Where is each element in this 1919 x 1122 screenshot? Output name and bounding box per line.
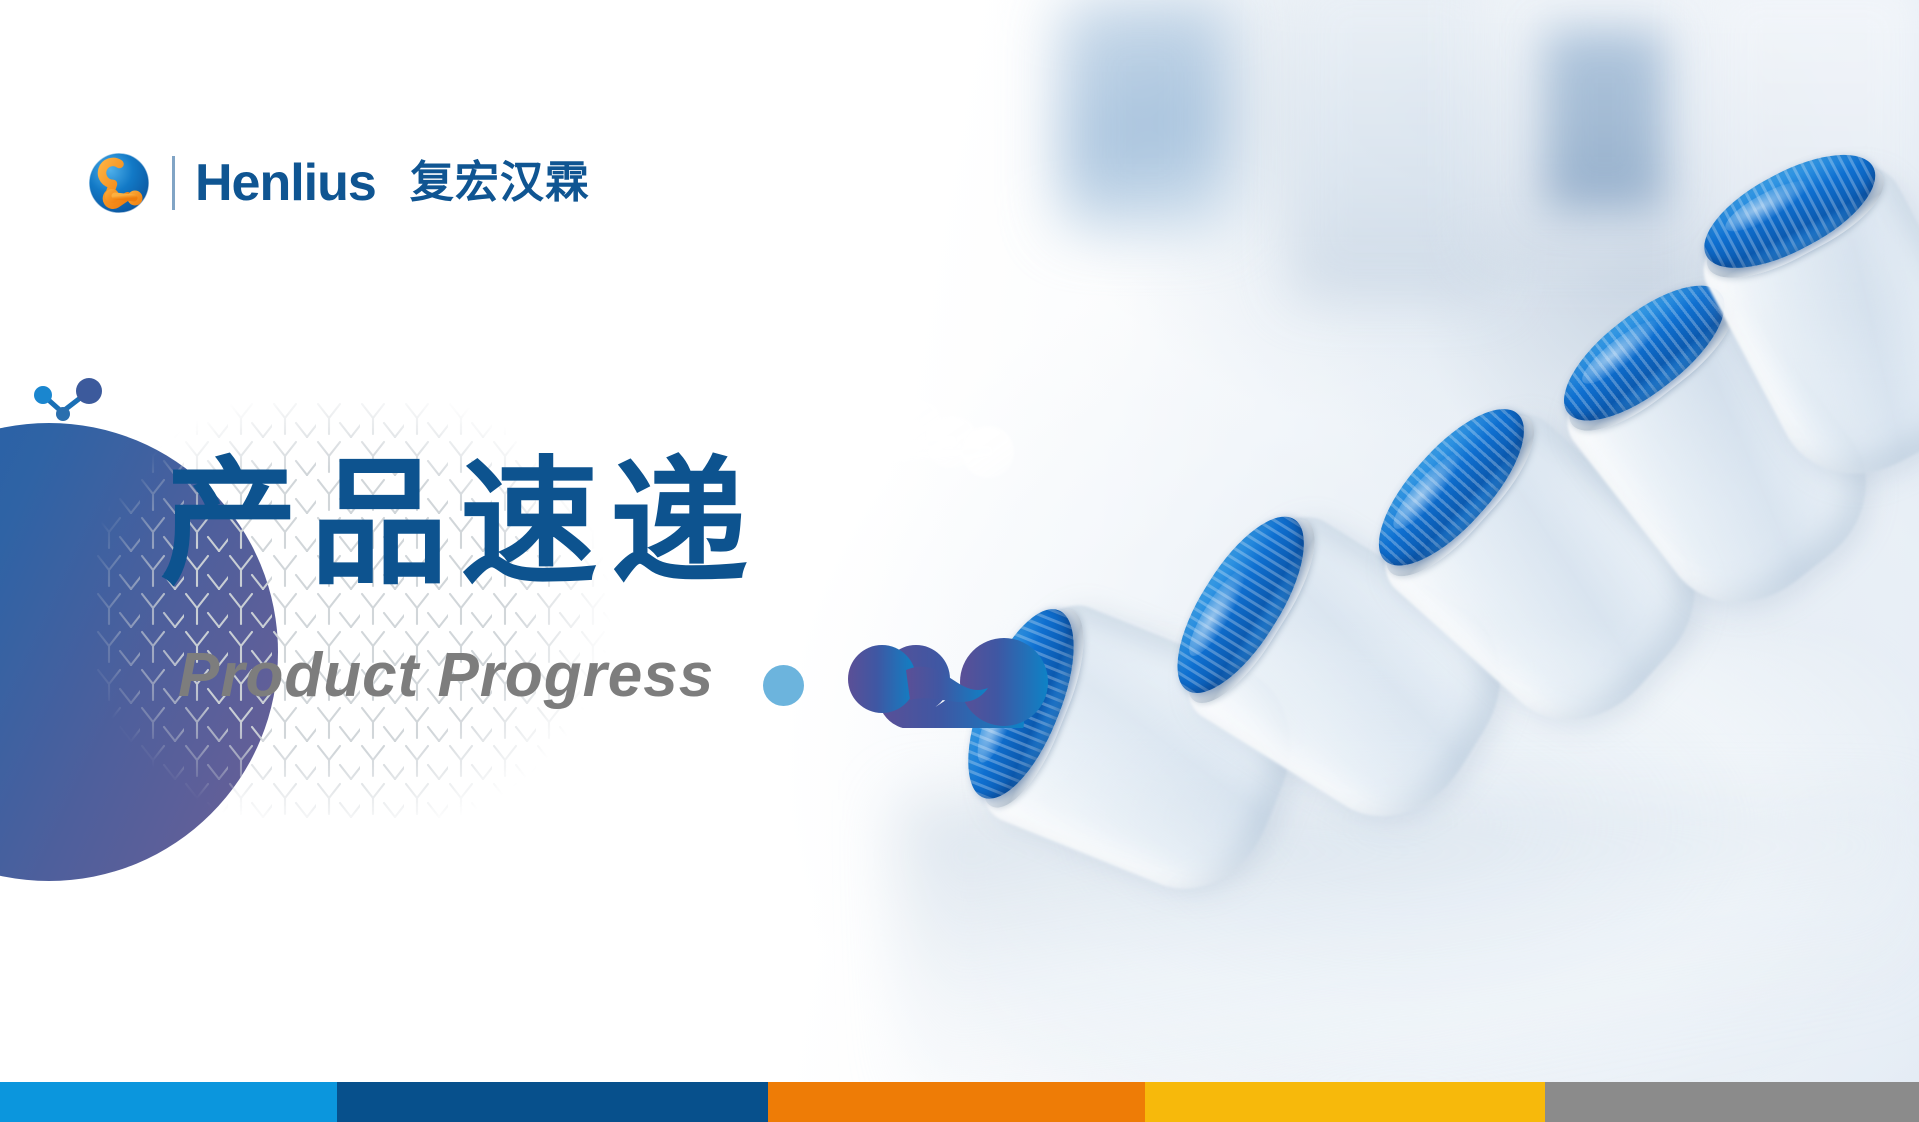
dot-icon xyxy=(763,665,804,706)
logo-name-cn: 复宏汉霖 xyxy=(410,161,590,205)
bottom-color-bar xyxy=(0,1082,1919,1122)
molecule-node-icon xyxy=(32,378,104,440)
bottom-bar-segment-amber xyxy=(1145,1082,1545,1122)
henlius-molecule-logo-icon xyxy=(88,152,150,214)
logo-divider xyxy=(172,156,175,210)
bottom-bar-segment-gray xyxy=(1545,1082,1919,1122)
bottom-bar-segment-orange xyxy=(768,1082,1145,1122)
page-title-en: Product Progress xyxy=(178,645,714,707)
molecule-dumbbell-icon xyxy=(848,630,1058,728)
blurred-dark-bottle xyxy=(1545,30,1665,210)
blurred-bottle-1 xyxy=(1290,0,1500,300)
page-title-cn: 产品速递 xyxy=(160,455,760,593)
logo-name-en: Henlius xyxy=(195,157,376,209)
brand-logo[interactable]: Henlius 复宏汉霖 xyxy=(88,152,590,214)
cover-slide: Henlius 复宏汉霖 产品速递 Product Progress xyxy=(0,0,1919,1122)
bottom-bar-segment-dark-blue xyxy=(337,1082,768,1122)
bottom-bar-segment-light-blue xyxy=(0,1082,337,1122)
